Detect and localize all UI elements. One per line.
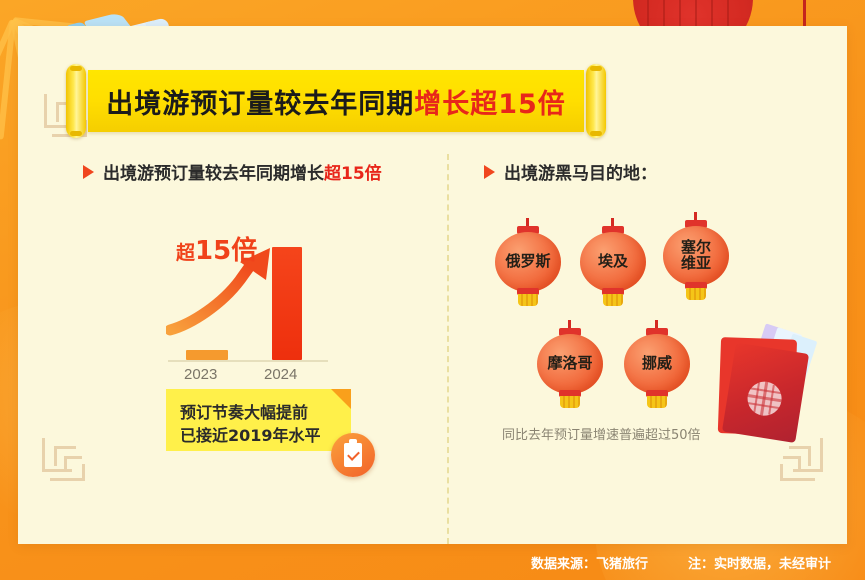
vertical-dashed-divider: [447, 154, 449, 544]
destination-label-3: 摩洛哥: [537, 334, 603, 394]
booking-note-card: 预订节奏大幅提前 已接近2019年水平: [166, 389, 351, 451]
chinese-corner-ornament-bottom-right: [761, 438, 823, 500]
clipboard-check-icon: [331, 433, 375, 477]
chinese-corner-ornament-bottom-left: [42, 438, 104, 500]
bar-2023: [186, 350, 228, 360]
passport-tickets-icon: [710, 319, 827, 448]
growth-bar-chart: 超15倍 2023 2024: [168, 222, 328, 362]
destination-label-0: 俄罗斯: [495, 232, 561, 292]
note-line-1: 预订节奏大幅提前: [180, 399, 308, 423]
page-title: 出境游预订量较去年同期增长超15倍: [88, 70, 584, 132]
axis-tick-2023: 2023: [184, 366, 217, 383]
section-heading-left: 出境游预订量较去年同期增长超15倍: [83, 159, 382, 184]
destination-lantern-4[interactable]: 挪威: [624, 326, 690, 412]
content-card: 出境游预订量较去年同期增长超15倍 出境游预订量较去年同期增长超15倍 出境游黑…: [18, 26, 847, 544]
destination-lantern-2[interactable]: 塞尔 维亚: [663, 218, 729, 304]
infographic-poster: 出境游预订量较去年同期增长超15倍 出境游预订量较去年同期增长超15倍 出境游黑…: [0, 0, 865, 580]
axis-tick-2024: 2024: [264, 366, 297, 383]
destination-lantern-0[interactable]: 俄罗斯: [495, 224, 561, 310]
title-banner-scroll: 出境游预订量较去年同期增长超15倍: [66, 70, 606, 132]
destination-lantern-1[interactable]: 埃及: [580, 224, 646, 310]
bar-2024: [272, 247, 302, 360]
chart-baseline: [168, 360, 328, 362]
section-heading-right: 出境游黑马目的地：: [484, 159, 657, 184]
footer-disclaimer: 注：实时数据，未经审计: [688, 553, 831, 572]
triangle-bullet-icon: [83, 165, 94, 179]
destination-label-2: 塞尔 维亚: [663, 226, 729, 286]
triangle-bullet-icon: [484, 165, 495, 179]
title-main: 出境游预订量较去年同期: [106, 82, 414, 121]
destination-label-1: 埃及: [580, 232, 646, 292]
section-heading-right-text: 出境游黑马目的地：: [504, 159, 657, 184]
growth-annotation: 超15倍: [176, 230, 257, 267]
note-folded-corner: [331, 389, 351, 409]
globe-emblem-icon: [745, 379, 784, 418]
destinations-caption: 同比去年预订量增速普遍超过50倍: [502, 424, 701, 443]
note-line-2: 已接近2019年水平: [180, 422, 321, 446]
section-heading-left-text: 出境游预订量较去年同期增长超15倍: [103, 159, 382, 184]
scroll-roll-left: [66, 64, 86, 138]
footer-bar: 数据来源：飞猪旅行 注：实时数据，未经审计: [0, 544, 865, 580]
footer-source: 数据来源：飞猪旅行: [531, 553, 648, 572]
title-highlight: 增长超15倍: [414, 82, 566, 121]
destination-label-4: 挪威: [624, 334, 690, 394]
scroll-roll-right: [586, 64, 606, 138]
destination-lantern-3[interactable]: 摩洛哥: [537, 326, 603, 412]
